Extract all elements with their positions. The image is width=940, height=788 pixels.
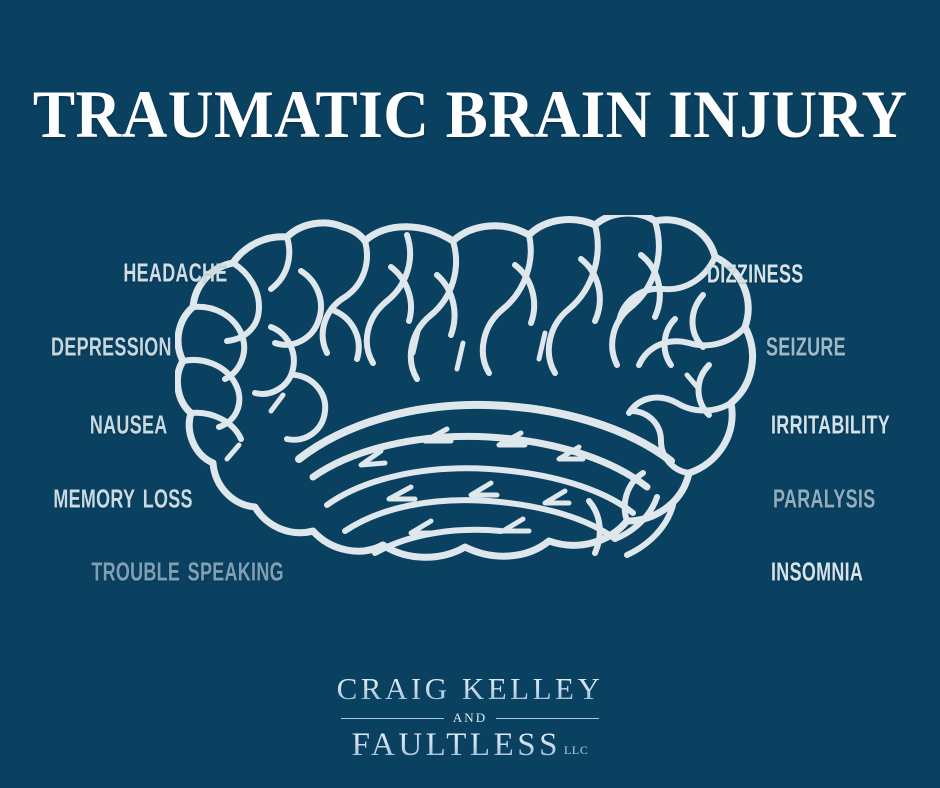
craig-kelley-and-faultless-llc-logo[interactable]: CRAIG KELLEY AND FAULTLESS LLC	[0, 672, 940, 763]
symptom-label-depression: Depression	[51, 324, 172, 362]
logo-rule-right	[496, 718, 599, 719]
symptom-label-headache: Headache	[124, 250, 228, 288]
logo-connector-and: AND	[453, 711, 487, 725]
symptom-label-dizziness: Dizziness	[707, 251, 804, 289]
symptom-label-memory-loss: Memory loss	[54, 476, 193, 514]
symptom-label-nausea: Nausea	[90, 402, 168, 440]
poster-canvas: TRAUMATIC BRAIN INJURY	[0, 0, 940, 788]
logo-firm-name-line2-wrap: FAULTLESS LLC	[352, 727, 589, 763]
logo-firm-name-line2: FAULTLESS	[352, 727, 561, 763]
page-title: TRAUMATIC BRAIN INJURY	[33, 78, 907, 150]
symptom-label-paralysis: Paralysis	[773, 476, 876, 514]
logo-firm-name-line1: CRAIG KELLEY	[0, 672, 940, 706]
logo-rule-left	[341, 718, 444, 719]
symptom-label-insomnia: Insomnia	[771, 549, 863, 587]
brain-outline-path	[177, 215, 752, 557]
logo-connector-row: AND	[341, 711, 599, 725]
symptom-label-irritability: Irritability	[771, 402, 890, 440]
logo-entity-suffix: LLC	[564, 743, 588, 758]
symptom-label-trouble-speaking: Trouble speaking	[91, 549, 284, 587]
symptom-label-seizure: Seizure	[766, 324, 846, 362]
